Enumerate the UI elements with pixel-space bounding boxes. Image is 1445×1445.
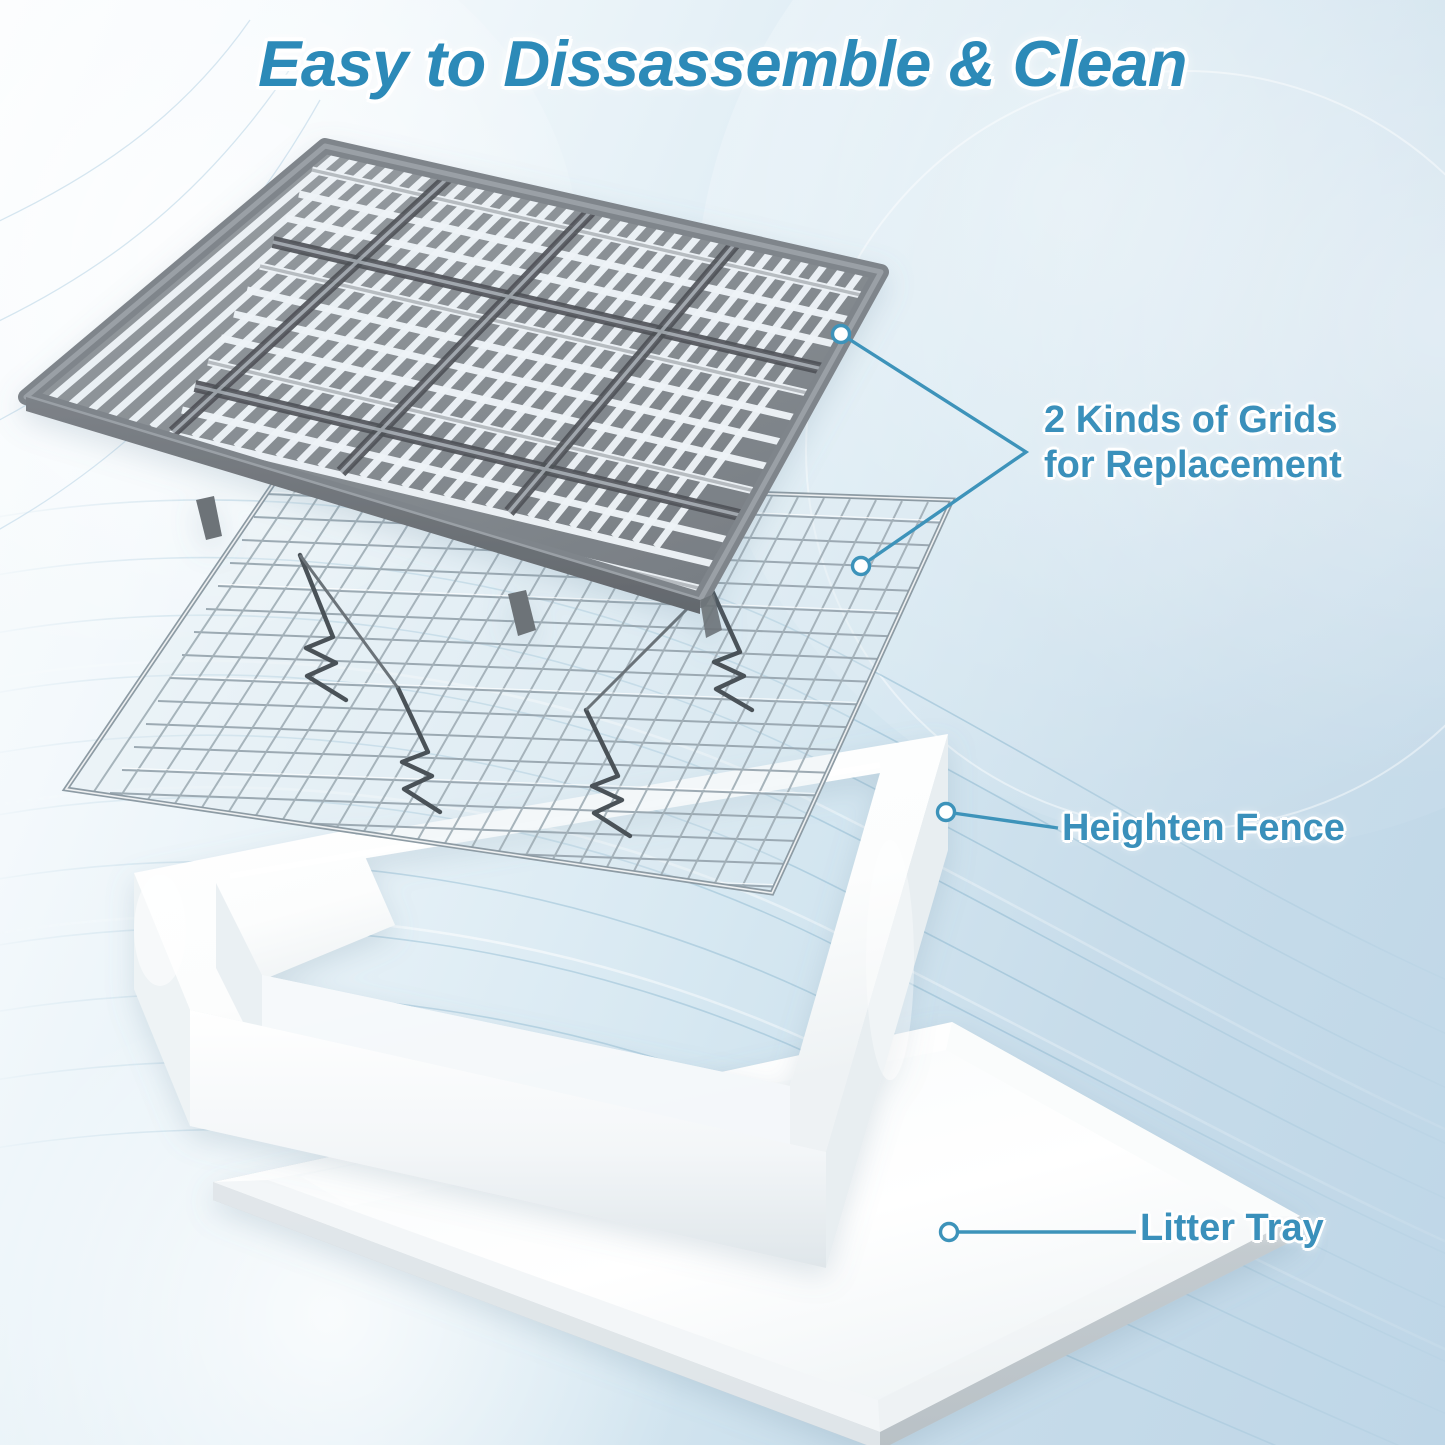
- callout-label-grids: 2 Kinds of Grids for Replacement: [1044, 398, 1342, 488]
- callout-dot-fence: [938, 804, 955, 821]
- page-title: Easy to Dissassemble & Clean: [0, 26, 1445, 101]
- callout-label-litter-tray: Litter Tray: [1140, 1206, 1324, 1251]
- callout-dot-grid-wire: [853, 558, 870, 575]
- leader-line-fence: [946, 812, 1058, 828]
- callout-dot-grid-plastic: [833, 326, 850, 343]
- leader-line-grids: [841, 334, 1026, 566]
- callout-label-heighten-fence: Heighten Fence: [1062, 806, 1345, 851]
- callout-dot-tray: [941, 1224, 958, 1241]
- infographic-canvas: Easy to Dissassemble & Clean 2 Kinds of …: [0, 0, 1445, 1445]
